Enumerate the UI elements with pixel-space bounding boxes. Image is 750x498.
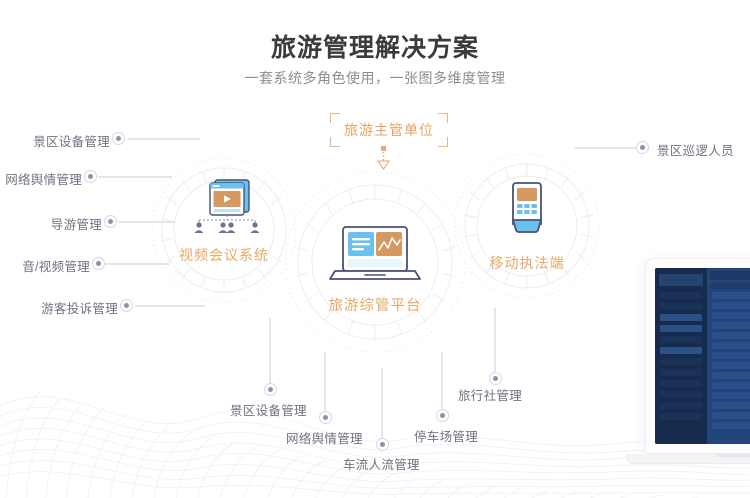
handheld-device-icon [502,180,552,242]
dashboard-brand [659,274,703,286]
left-label-1: 景区设备管理 [0,131,110,150]
sidebar-item [660,358,702,365]
left-label-2-dot[interactable] [84,170,97,183]
laptop-lid [645,258,750,454]
sidebar-item [660,380,702,387]
node-video-conference[interactable]: 视频会议系统 [164,176,284,265]
dashboard-row [712,352,750,359]
dashboard-row [712,292,750,299]
node-mobile-enforcement-label: 移动执法端 [467,253,587,273]
dashboard-sidebar [655,268,707,444]
dashboard-screen [655,268,750,444]
badge-corner-top-left [330,113,340,123]
sidebar-item [660,369,702,376]
right-label-1: 景区巡逻人员 [657,140,734,159]
bottom-label-1-dot[interactable] [264,383,277,396]
sidebar-item [660,314,702,321]
bottom-label-3-dot[interactable] [376,438,389,451]
bottom-label-3: 车流人流管理 [343,454,420,473]
bottom-label-4: 停车场管理 [414,426,478,445]
sidebar-item [660,391,702,398]
sidebar-item [660,413,702,420]
left-label-1-dot[interactable] [112,132,125,145]
node-video-conference-label: 视频会议系统 [164,245,284,265]
node-tourism-platform-label: 旅游综管平台 [315,294,435,315]
dashboard-row [712,362,750,369]
bottom-label-4-dot[interactable] [436,409,449,422]
dashboard-row [712,392,750,399]
bottom-label-5: 旅行社管理 [458,385,522,404]
bottom-label-1: 景区设备管理 [230,400,307,419]
dashboard-row [712,402,750,409]
dashboard-row [712,372,750,379]
left-label-4: 音/视频管理 [0,256,90,275]
dashboard-row [712,322,750,329]
left-label-2: 网络舆情管理 [0,169,82,188]
left-label-4-dot[interactable] [92,257,105,270]
badge-down-arrow-icon [375,146,393,172]
dashboard-topbar [710,271,750,280]
bottom-label-2: 网络舆情管理 [286,428,363,447]
sidebar-item [660,402,702,409]
dashboard-row [712,302,750,309]
laptop-dashboard-preview [645,258,750,464]
left-label-3: 导游管理 [0,214,102,233]
laptop-dashboard-icon [325,225,425,283]
badge-corner-top-right [438,113,448,123]
sidebar-item [660,303,702,310]
node-mobile-enforcement[interactable]: 移动执法端 [467,180,587,273]
left-label-3-dot[interactable] [104,215,117,228]
sidebar-item [660,292,702,299]
badge-corner-bottom-right [438,137,448,147]
dashboard-row [712,332,750,339]
node-tourism-platform[interactable]: 旅游综管平台 [315,225,435,315]
laptop-base [626,454,750,464]
dashboard-row [712,342,750,349]
dashboard-main [707,268,750,444]
sidebar-item [660,325,702,332]
sidebar-item [660,347,702,354]
laptop-notch [717,454,750,457]
dashboard-row [712,382,750,389]
badge-corner-bottom-left [330,137,340,147]
dashboard-row [712,312,750,319]
dashboard-row [712,412,750,419]
video-window-icon [185,176,263,234]
infographic-canvas: 旅游管理解决方案 一套系统多角色使用，一张图多维度管理 旅游主管单位 [0,0,750,498]
bottom-label-5-dot[interactable] [489,372,502,385]
page-subtitle: 一套系统多角色使用，一张图多维度管理 [0,68,750,88]
bottom-label-2-dot[interactable] [319,411,332,424]
left-label-5-dot[interactable] [120,299,133,312]
authority-badge[interactable]: 旅游主管单位 [330,113,448,147]
dashboard-filterbar [710,283,750,289]
authority-badge-label: 旅游主管单位 [344,122,434,138]
page-title: 旅游管理解决方案 [0,28,750,64]
sidebar-item [660,336,702,343]
dashboard-row [712,422,750,429]
left-label-5: 游客投诉管理 [0,298,118,317]
right-label-1-dot[interactable] [636,141,649,154]
